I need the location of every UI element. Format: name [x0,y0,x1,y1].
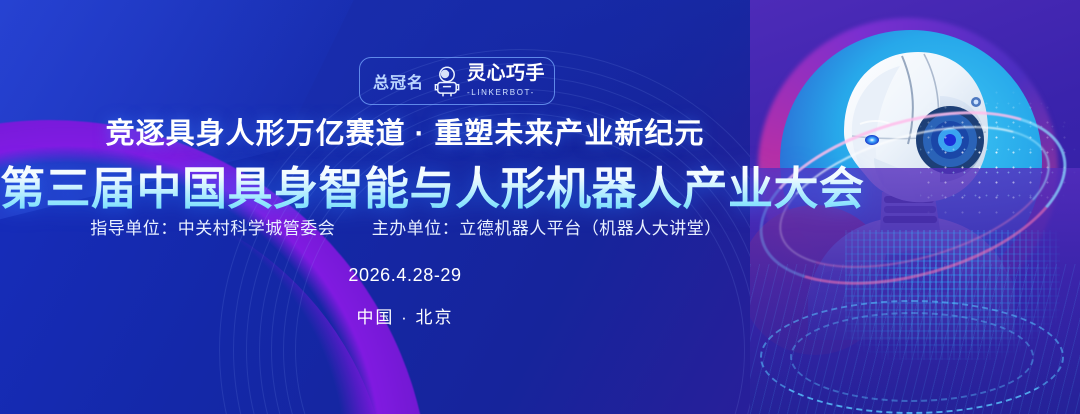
banner-subtitle: 竞逐具身人形万亿赛道 · 重塑未来产业新纪元 [0,110,1080,152]
host-unit-label: 主办单位：立德机器人平台（机器人大讲堂） [372,219,722,238]
sponsor-brand-cn: 灵心巧手 [467,63,545,84]
conference-banner: 总冠名 灵心巧手 -LINKERBOT- 竞逐具身人形万亿赛道 [0,0,1080,414]
sponsor-brand-text: 灵心巧手 -LINKERBOT- [467,64,545,99]
sponsor-badge: 总冠名 灵心巧手 -LINKERBOT- [359,57,555,105]
guidance-unit-label: 指导单位：中关村科学城管委会 [90,219,335,238]
organizer-line: 指导单位：中关村科学城管委会 主办单位：立德机器人平台（机器人大讲堂） [0,214,1080,239]
astronaut-robot-icon [432,65,462,97]
page-title: 第三届中国具身智能与人形机器人产业大会 [0,152,1080,217]
sponsor-label: 总冠名 [373,69,424,93]
event-date: 2026.4.28-29 [0,265,1080,286]
event-location: 中国 · 北京 [0,303,1080,328]
sponsor-brand-en: -LINKERBOT- [467,88,535,97]
sponsor-logo: 灵心巧手 -LINKERBOT- [432,64,545,99]
